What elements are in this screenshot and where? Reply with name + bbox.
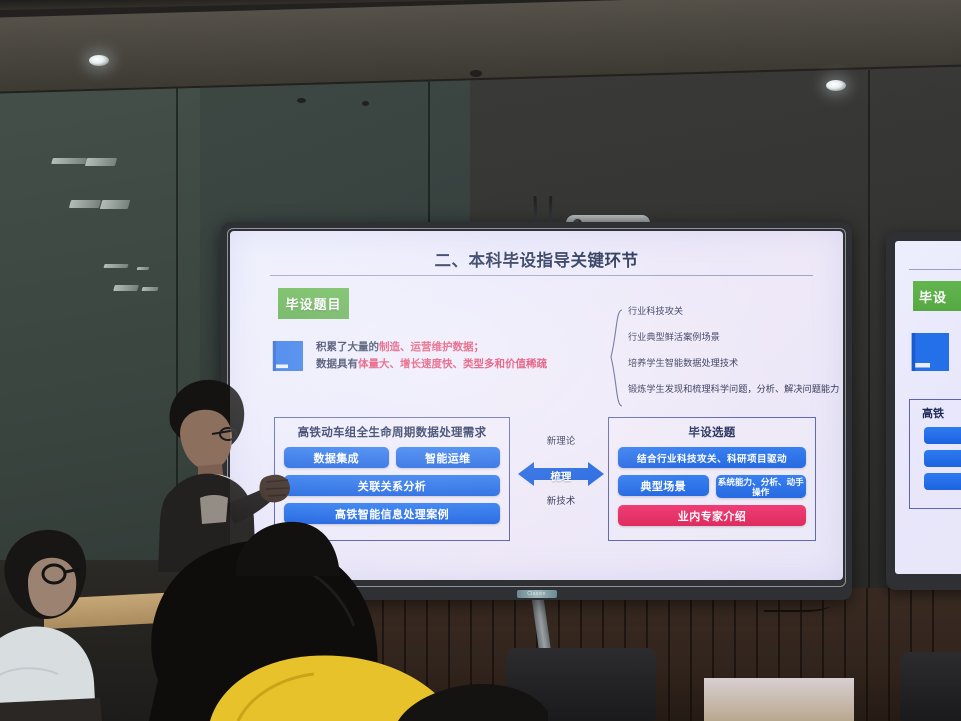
left-panel-row-2: 关联关系分析	[275, 475, 509, 496]
chalk-mark	[137, 267, 150, 270]
arrow-top-label: 新理论	[518, 433, 604, 447]
right-panel-title: 毕设选题	[609, 424, 815, 440]
secondary-button[interactable]	[924, 473, 961, 490]
secondary-button[interactable]	[924, 450, 961, 467]
ceiling-downlight	[89, 55, 109, 66]
bidirectional-arrow-group: 新理论 梳理 新技术	[518, 431, 604, 527]
right-button-industry-research[interactable]: 结合行业科技攻关、科研项目驱动	[618, 447, 806, 468]
right-panel-row-3: 业内专家介绍	[609, 505, 815, 526]
description-text: 积累了大量的制造、运营维护数据； 数据具有体量大、增长速度快、类型多和价值稀疏	[316, 339, 616, 373]
wall-panel-line	[868, 70, 870, 630]
student-desk-right	[704, 678, 854, 721]
audience-member-back	[232, 516, 342, 576]
list-item: 锻炼学生发现和梳理科学问题，分析、解决问题能力	[628, 383, 843, 396]
right-button-typical-scenario[interactable]: 典型场景	[618, 475, 709, 496]
left-panel-title: 高铁动车组全生命周期数据处理需求	[275, 424, 509, 440]
chalk-mark	[69, 200, 101, 208]
secondary-display-screen[interactable]: 毕设 高铁	[895, 241, 961, 574]
secondary-panel-title: 高铁	[910, 400, 961, 421]
arrow-center-label: 梳理	[518, 469, 604, 484]
arrow-bottom-label: 新技术	[518, 493, 604, 507]
para-line2-plain: 数据具有	[316, 358, 358, 370]
secondary-panel: 高铁	[909, 399, 961, 509]
right-panel-row-2: 典型场景 系统能力、分析、动手操作	[609, 475, 815, 498]
secondary-title-divider	[909, 269, 961, 270]
secondary-status-badge: 毕设	[913, 281, 961, 311]
bullet-list: 行业科技攻关 行业典型鲜活案例场景 培养学生智能数据处理技术 锻炼学生发现和梳理…	[628, 305, 843, 409]
status-badge: 毕设题目	[278, 288, 349, 319]
chalk-mark	[113, 285, 139, 291]
chalk-mark	[85, 158, 117, 166]
left-button-relation-analysis[interactable]: 关联关系分析	[284, 475, 500, 496]
list-item: 行业科技攻关	[628, 305, 843, 318]
curly-bracket-icon	[608, 309, 624, 407]
para-line1-highlight: 制造、运营维护数据；	[379, 341, 484, 353]
ceiling-fixture	[297, 98, 306, 103]
right-button-system-capability[interactable]: 系统能力、分析、动手操作	[716, 475, 807, 498]
para-line1-plain: 积累了大量的	[316, 341, 379, 353]
chair-back	[900, 652, 961, 721]
right-panel-row-1: 结合行业科技攻关、科研项目驱动	[609, 447, 815, 468]
left-panel-row-1: 数据集成 智能运维	[275, 447, 509, 468]
secondary-display[interactable]: 毕设 高铁	[886, 232, 961, 590]
secondary-book-icon	[911, 331, 951, 373]
display-brand-logo: Classin	[517, 590, 557, 598]
ceiling-downlight	[826, 80, 846, 91]
audience-member-left	[0, 516, 128, 721]
list-item: 培养学生智能数据处理技术	[628, 357, 843, 370]
para-line2-highlight: 体量大、增长速度快、类型多和价值稀疏	[358, 358, 547, 370]
list-item: 行业典型鲜活案例场景	[628, 331, 843, 344]
chalk-mark	[141, 287, 158, 291]
title-divider	[270, 275, 813, 276]
left-button-data-integration[interactable]: 数据集成	[284, 447, 389, 468]
chalk-mark	[51, 158, 87, 164]
page-title: 二、本科毕设指导关键环节	[230, 247, 843, 271]
chalk-mark	[100, 200, 131, 209]
lecture-room-photo: 二、本科毕设指导关键环节 毕设题目 积累了大量的制造、运营维护数据； 数据具有体…	[0, 0, 961, 721]
secondary-button[interactable]	[924, 427, 961, 444]
book-icon	[272, 339, 305, 373]
left-button-smart-ops[interactable]: 智能运维	[396, 447, 501, 468]
right-button-expert-intro[interactable]: 业内专家介绍	[618, 505, 806, 526]
chalk-mark	[103, 264, 128, 268]
audience-member-right	[398, 682, 548, 721]
ceiling-fixture	[362, 101, 369, 106]
ceiling-fixture	[470, 70, 482, 77]
right-panel: 毕设选题 结合行业科技攻关、科研项目驱动 典型场景 系统能力、分析、动手操作 业…	[608, 417, 816, 541]
